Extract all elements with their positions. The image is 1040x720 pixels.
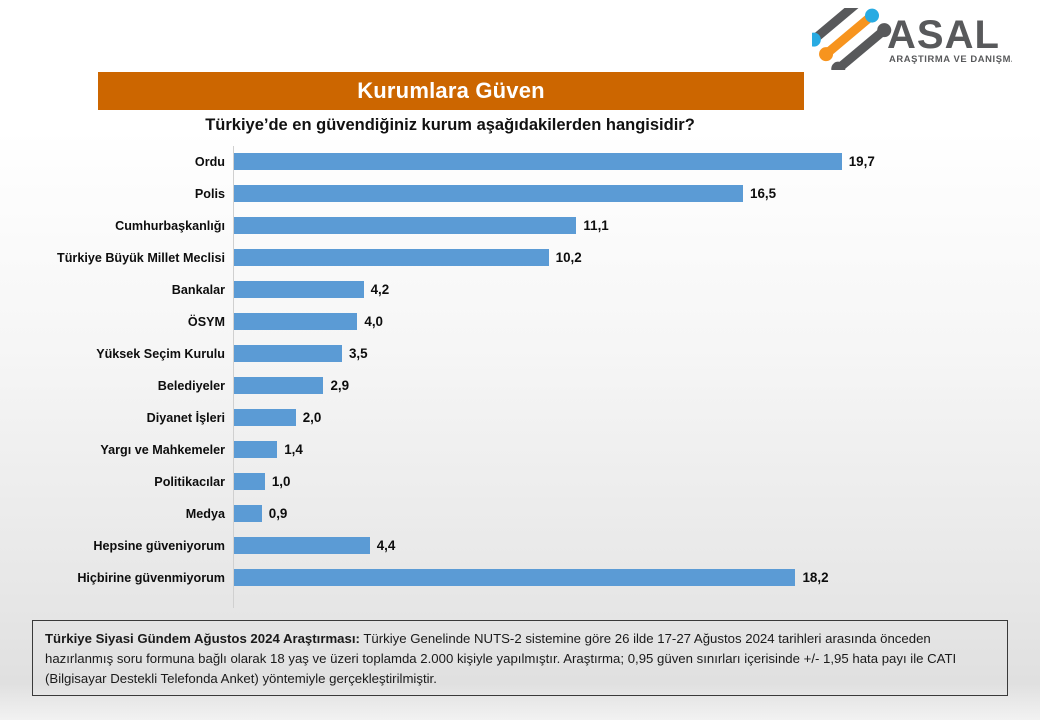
chart-row: Politikacılar1,0 xyxy=(0,466,1040,498)
bar-value-label: 16,5 xyxy=(750,178,776,210)
category-label: Bankalar xyxy=(0,274,225,306)
bar-value-label: 19,7 xyxy=(849,146,875,178)
logo-wordmark: ASAL xyxy=(887,13,1000,57)
chart-row: Bankalar4,2 xyxy=(0,274,1040,306)
category-label: Ordu xyxy=(0,146,225,178)
bar xyxy=(234,473,265,490)
chart-row: Belediyeler2,9 xyxy=(0,370,1040,402)
bar-value-label: 1,4 xyxy=(284,434,303,466)
logo-mark xyxy=(812,8,894,70)
bar xyxy=(234,377,323,394)
logo-tagline: ARAŞTIRMA VE DANIŞMANLIK xyxy=(889,53,1012,64)
slide-canvas: ASAL ARAŞTIRMA VE DANIŞMANLIK Kurumlara … xyxy=(0,0,1040,720)
chart-row: Ordu19,7 xyxy=(0,146,1040,178)
bar xyxy=(234,249,549,266)
page-title: Kurumlara Güven xyxy=(357,78,545,104)
category-label: Diyanet İşleri xyxy=(0,402,225,434)
bar-value-label: 10,2 xyxy=(556,242,582,274)
methodology-footnote: Türkiye Siyasi Gündem Ağustos 2024 Araşt… xyxy=(32,620,1008,696)
bar xyxy=(234,569,795,586)
chart-row: Cumhurbaşkanlığı11,1 xyxy=(0,210,1040,242)
category-label: Belediyeler xyxy=(0,370,225,402)
chart-row: ÖSYM4,0 xyxy=(0,306,1040,338)
category-label: ÖSYM xyxy=(0,306,225,338)
chart-row: Medya0,9 xyxy=(0,498,1040,530)
category-label: Hiçbirine güvenmiyorum xyxy=(0,562,225,594)
bar-value-label: 3,5 xyxy=(349,338,368,370)
bar-value-label: 18,2 xyxy=(802,562,828,594)
title-banner: Kurumlara Güven xyxy=(98,72,804,110)
chart-row: Hepsine güveniyorum4,4 xyxy=(0,530,1040,562)
chart-row: Hiçbirine güvenmiyorum18,2 xyxy=(0,562,1040,594)
bar-value-label: 1,0 xyxy=(272,466,291,498)
bar-value-label: 4,0 xyxy=(364,306,383,338)
bar xyxy=(234,409,296,426)
category-label: Yargı ve Mahkemeler xyxy=(0,434,225,466)
bar-value-label: 2,9 xyxy=(330,370,349,402)
chart-row: Yüksek Seçim Kurulu3,5 xyxy=(0,338,1040,370)
chart-row: Polis16,5 xyxy=(0,178,1040,210)
bar xyxy=(234,313,357,330)
category-label: Medya xyxy=(0,498,225,530)
category-label: Cumhurbaşkanlığı xyxy=(0,210,225,242)
category-label: Politikacılar xyxy=(0,466,225,498)
chart-row: Diyanet İşleri2,0 xyxy=(0,402,1040,434)
bar-value-label: 2,0 xyxy=(303,402,322,434)
chart-row: Yargı ve Mahkemeler1,4 xyxy=(0,434,1040,466)
bar-value-label: 4,2 xyxy=(371,274,390,306)
asal-logo: ASAL ARAŞTIRMA VE DANIŞMANLIK xyxy=(812,8,1012,70)
bar-value-label: 11,1 xyxy=(583,210,608,242)
chart-row: Türkiye Büyük Millet Meclisi10,2 xyxy=(0,242,1040,274)
footnote-lead: Türkiye Siyasi Gündem Ağustos 2024 Araşt… xyxy=(45,631,360,646)
bar xyxy=(234,345,342,362)
logo-graphic: ASAL ARAŞTIRMA VE DANIŞMANLIK xyxy=(812,8,1012,70)
bar xyxy=(234,185,743,202)
bar-chart: Ordu19,7Polis16,5Cumhurbaşkanlığı11,1Tür… xyxy=(0,146,1040,610)
bar xyxy=(234,217,576,234)
category-label: Yüksek Seçim Kurulu xyxy=(0,338,225,370)
bar-value-label: 4,4 xyxy=(377,530,396,562)
bar xyxy=(234,153,842,170)
category-label: Türkiye Büyük Millet Meclisi xyxy=(0,242,225,274)
bar xyxy=(234,441,277,458)
bar xyxy=(234,505,262,522)
bar xyxy=(234,537,370,554)
category-label: Hepsine güveniyorum xyxy=(0,530,225,562)
category-label: Polis xyxy=(0,178,225,210)
bar xyxy=(234,281,364,298)
bar-value-label: 0,9 xyxy=(269,498,288,530)
chart-question-subtitle: Türkiye’de en güvendiğiniz kurum aşağıda… xyxy=(0,116,900,135)
